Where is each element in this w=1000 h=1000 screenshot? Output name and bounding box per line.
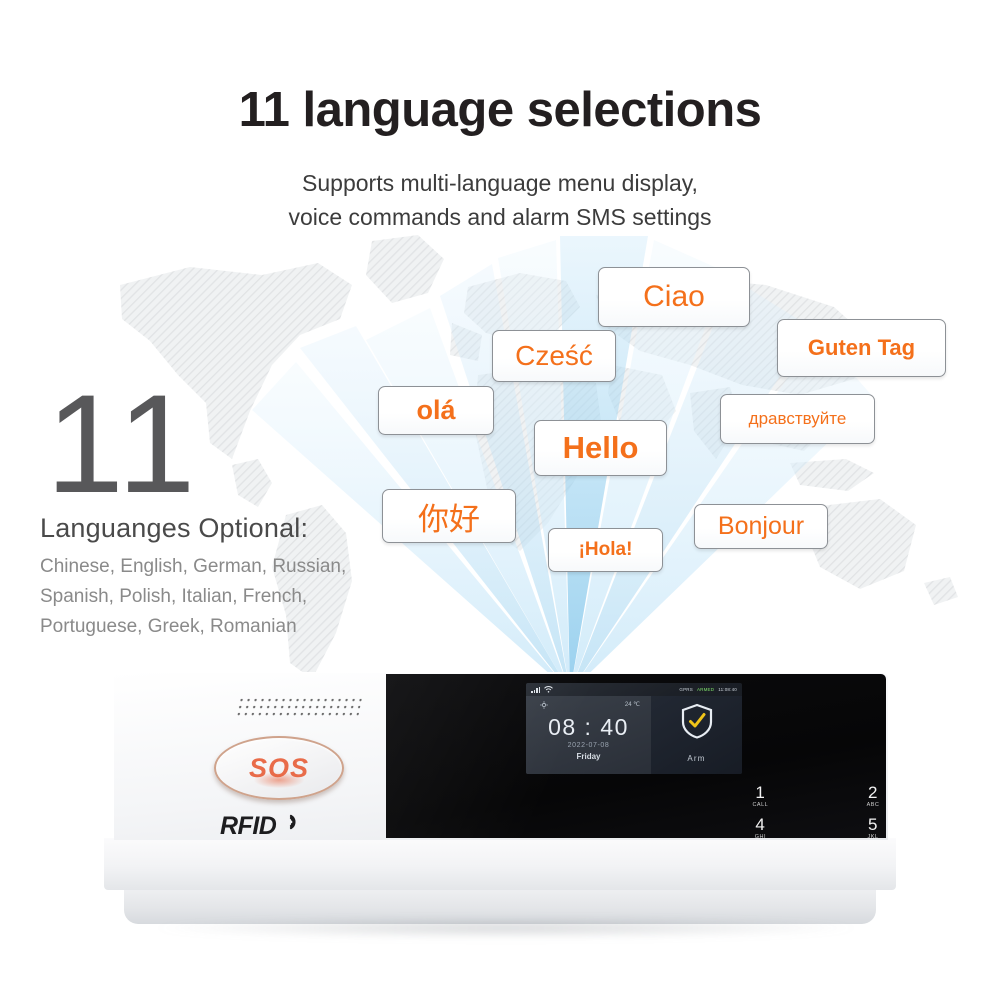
language-count-caption: Languanges Optional: [40,513,390,544]
sos-button[interactable]: SOS [214,736,344,800]
keypad-sublabel: ABC [817,803,886,809]
rfid-wave-icon [278,812,300,834]
language-list-line-2: Spanish, Polish, Italian, French, [40,582,390,612]
wifi-icon [544,686,553,693]
keypad-key-4[interactable]: 4GHI [704,816,817,839]
language-count-number: 11 [46,385,390,503]
greeting-bubble-french: Bonjour [694,504,828,549]
lcd-temperature: 24 ℃ [625,701,640,709]
page-subtitle: Supports multi-language menu display, vo… [0,166,1000,234]
language-list: Chinese, English, German, Russian, Spani… [40,552,390,642]
lcd-status-chip-1: GPRS [679,687,693,692]
rfid-label: RFID [220,812,276,841]
greeting-bubble-russian: дравствуйте [720,394,875,444]
sos-led-glow [254,772,304,788]
alarm-panel-device: SOS RFID [96,672,906,932]
shield-armed-icon [680,703,714,739]
keypad-digit: 4 [704,816,817,833]
subtitle-line-2: voice commands and alarm SMS settings [0,200,1000,234]
lcd-status-chip-2: ARMED [697,687,714,692]
language-list-line-1: Chinese, English, German, Russian, [40,552,390,582]
greeting-bubble-portuguese: olá [378,386,494,435]
greeting-bubble-polish: Cześć [492,330,616,382]
keypad-glass-panel: GPRS ARMED 11:08:40 24 ℃ [386,674,886,838]
language-list-line-3: Portuguese, Greek, Romanian [40,612,390,642]
lcd-date: 2022-07-08 [526,742,651,749]
lcd-status-bar: GPRS ARMED 11:08:40 [526,683,742,696]
keypad-digit: 5 [817,816,886,833]
greeting-bubble-german: Guten Tag [777,319,946,377]
keypad-sublabel: CALL [704,803,817,809]
greeting-bubble-english: Hello [534,420,667,476]
keypad-digit: 1 [704,784,817,801]
greeting-bubble-chinese: 你好 [382,489,516,543]
subtitle-line-1: Supports multi-language menu display, [0,166,1000,200]
speaker-grille-icon [236,698,362,718]
greeting-bubble-spanish: ¡Hola! [548,528,663,572]
lcd-arm-label: Arm [651,754,742,763]
promo-banner: 11 language selections Supports multi-la… [0,0,1000,1000]
keypad-digit: 2 [817,784,886,801]
device-front-face [104,838,896,890]
keypad-sublabel: JKL [817,835,886,839]
rfid-reader-marking: RFID [220,812,300,841]
lcd-time: 08 : 40 [526,714,651,741]
keypad-key-5[interactable]: 5JKL [817,816,886,839]
keypad-key-2[interactable]: 2ABC [817,784,886,809]
device-top-surface: SOS RFID [114,672,888,840]
device-drop-shadow [156,918,856,938]
keypad-key-1[interactable]: 1CALL [704,784,817,809]
numeric-keypad[interactable]: 1CALL2ABC3DEF4GHI5JKL6MNO7PQRS8TUV9WXYZA… [704,784,886,838]
lcd-clock-pane: 24 ℃ 08 : 40 2022-07-08 Friday [526,696,651,774]
lcd-status-chip-3: 11:08:40 [718,687,737,692]
language-count-block: 11 Languanges Optional: Chinese, English… [40,385,390,642]
greeting-bubble-italian: Ciao [598,267,750,327]
keypad-sublabel: GHI [704,835,817,839]
lcd-weekday: Friday [526,752,651,761]
lcd-weather-row: 24 ℃ [540,701,640,709]
page-title: 11 language selections [0,82,1000,138]
lcd-display: GPRS ARMED 11:08:40 24 ℃ [526,683,742,774]
shield-icon-wrap [651,703,742,739]
signal-bars-icon [531,686,540,693]
lcd-arm-pane: Arm [651,696,742,774]
weather-icon [540,701,548,709]
